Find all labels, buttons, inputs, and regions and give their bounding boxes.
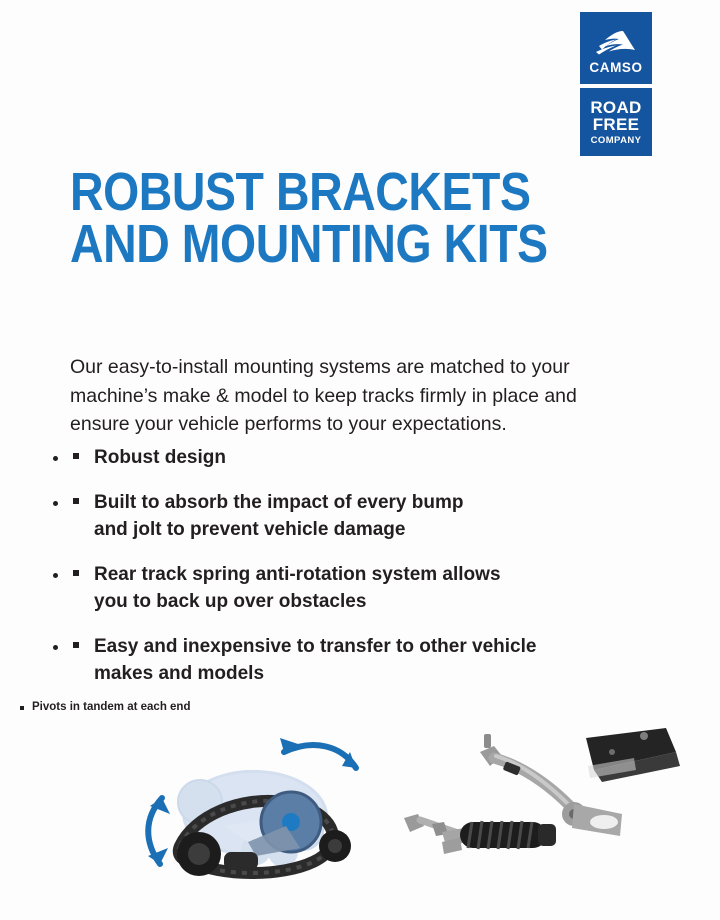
intro-paragraph: Our easy-to-install mounting systems are… — [70, 353, 632, 439]
road-free-line-2: FREE — [593, 117, 640, 134]
pivot-rotation-arrow-right — [280, 738, 356, 768]
footnote-text: Pivots in tandem at each end — [32, 701, 190, 713]
mounting-hardware-photos — [398, 722, 698, 887]
bullet-square-icon — [20, 706, 24, 710]
feature-list-item-text: Easy and inexpensive to transfer to othe… — [94, 634, 630, 688]
road-free-company-tile: ROAD FREE COMPANY — [580, 88, 652, 156]
feature-list-item-text: Robust design — [94, 445, 630, 472]
anti-rotation-spring-rod-photo — [404, 814, 556, 854]
camso-wordmark: CAMSO — [589, 61, 642, 75]
illustration-area — [0, 722, 720, 897]
rubber-track-system-pivot-diagram — [128, 730, 380, 890]
bullet-square-icon — [73, 453, 79, 459]
feature-list-item-text: Rear track spring anti-rotation system a… — [94, 562, 630, 616]
bullet-square-icon — [73, 642, 79, 648]
bullet-square-icon — [73, 570, 79, 576]
feature-list: Robust designBuilt to absorb the impact … — [70, 445, 630, 706]
camso-chevron-mark-icon — [593, 28, 639, 58]
road-free-line-3: COMPANY — [591, 136, 642, 145]
page-title-line-2: AND MOUNTING KITS — [70, 218, 517, 270]
page-title-line-1: ROBUST BRACKETS — [70, 166, 517, 218]
feature-list-item: Easy and inexpensive to transfer to othe… — [70, 634, 630, 688]
feature-list-item: Built to absorb the impact of every bump… — [70, 490, 630, 544]
pivot-rotation-arrow-left — [148, 798, 170, 864]
feature-list-item-text: Built to absorb the impact of every bump… — [94, 490, 630, 544]
mounting-bracket-rail-photo — [586, 728, 680, 782]
brand-logo-block: CAMSO ROAD FREE COMPANY — [580, 12, 652, 156]
footnote: Pivots in tandem at each end — [18, 701, 190, 715]
feature-list-item: Rear track spring anti-rotation system a… — [70, 562, 630, 616]
page-title: ROBUST BRACKETS AND MOUNTING KITS — [70, 166, 517, 271]
camso-logo-tile: CAMSO — [580, 12, 652, 84]
feature-list-item: Robust design — [70, 445, 630, 472]
bullet-square-icon — [73, 498, 79, 504]
